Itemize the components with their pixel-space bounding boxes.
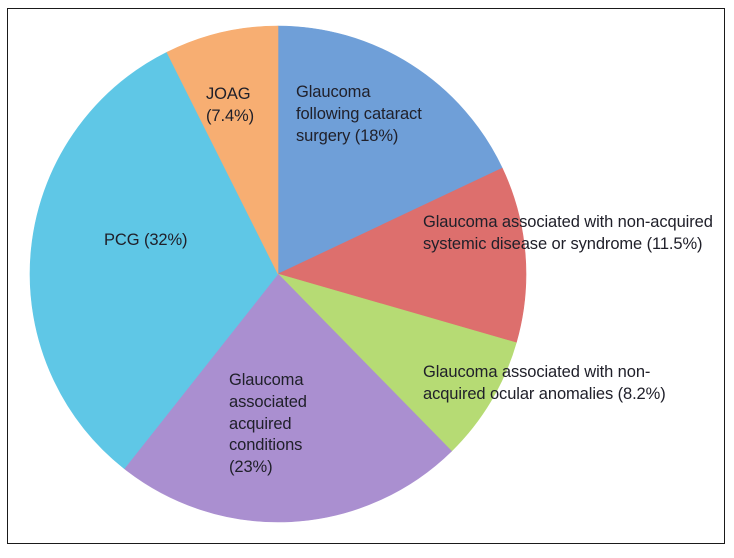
pie-label-systemic-disease: Glaucoma associated with non-acquired sy… — [423, 212, 713, 256]
pie-label-joag: JOAG (7.4%) — [206, 84, 292, 128]
pie-label-acquired-conditions: Glaucoma associated acquired conditions … — [229, 370, 359, 479]
pie-label-pcg: PCG (32%) — [104, 230, 234, 252]
pie-label-cataract-surgery: Glaucoma following cataract surgery (18%… — [296, 82, 464, 147]
figure-container: Glaucoma following cataract surgery (18%… — [0, 0, 734, 558]
pie-label-ocular-anomalies: Glaucoma associated with non-acquired oc… — [423, 362, 703, 406]
